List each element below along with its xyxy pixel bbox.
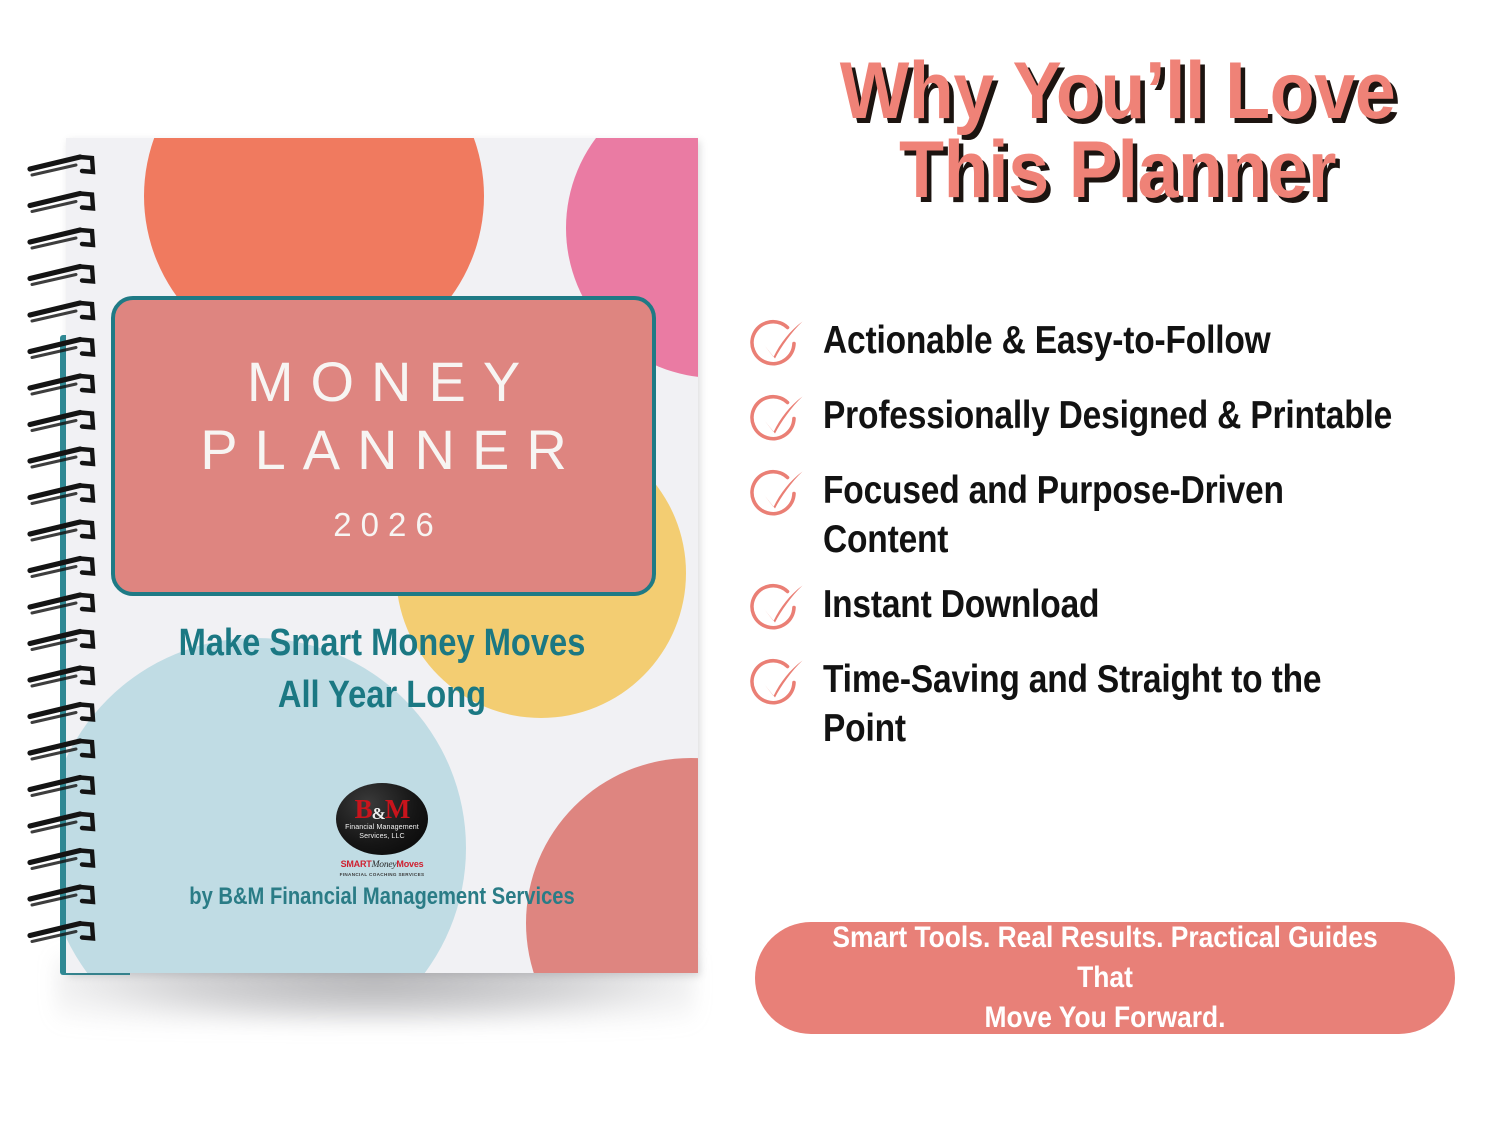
bm-logo: B&M Financial Management Services, LLC S… (333, 783, 431, 877)
wordmark-moves: Moves (396, 859, 423, 869)
list-item-label: Time-Saving and Straight to the Point (823, 656, 1401, 754)
list-item: Professionally Designed & Printable (747, 392, 1487, 451)
wordmark-money: Money (372, 860, 397, 870)
tagline-text: Smart Tools. Real Results. Practical Gui… (832, 918, 1378, 1038)
page-title: Why You’ll LoveThis Planner (792, 52, 1443, 211)
check-circle-icon (747, 657, 809, 715)
check-circle-icon (747, 468, 809, 526)
bm-logo-initial-b: B (355, 794, 372, 824)
list-item-label: Instant Download (823, 581, 1401, 630)
cover-byline: by B&M Financial Management Services (117, 883, 648, 911)
list-item: Focused and Purpose-Driven Content (747, 467, 1487, 565)
wordmark-smart: SMART (341, 859, 372, 869)
cover-title-line-1: MONEY (230, 348, 537, 416)
bm-logo-line-1: Financial Management (345, 823, 419, 832)
list-item: Time-Saving and Straight to the Point (747, 656, 1487, 754)
cover-title-card: MONEY PLANNER 2026 (111, 296, 656, 596)
list-item: Instant Download (747, 581, 1487, 640)
check-circle-icon (747, 393, 809, 451)
list-item-label: Actionable & Easy-to-Follow (823, 317, 1401, 366)
cover-subtitle: Make Smart Money Moves All Year Long (110, 618, 654, 721)
check-circle-icon (747, 318, 809, 376)
cover-title-line-2: PLANNER (183, 416, 584, 484)
decorative-circle-rose (526, 758, 698, 973)
list-item-label: Focused and Purpose-Driven Content (823, 467, 1401, 565)
wordmark-tagline: FINANCIAL COACHING SERVICES (333, 872, 431, 877)
bm-logo-ampersand: & (372, 804, 385, 823)
promo-graphic: MONEY PLANNER 2026 Make Smart Money Move… (0, 0, 1500, 1125)
check-circle-icon (747, 582, 809, 640)
planner-mockup: MONEY PLANNER 2026 Make Smart Money Move… (0, 0, 740, 1125)
cover-subtitle-line-2: All Year Long (110, 670, 654, 722)
bm-logo-line-2: Services, LLC (359, 832, 404, 841)
tagline-pill: Smart Tools. Real Results. Practical Gui… (755, 922, 1455, 1034)
copy-column: Why You’ll LoveThis Planner Actionable &… (735, 0, 1500, 1125)
bm-logo-initial-m: M (385, 794, 409, 824)
list-item-label: Professionally Designed & Printable (823, 392, 1401, 441)
cover-year: 2026 (324, 506, 442, 544)
planner-front-cover: MONEY PLANNER 2026 Make Smart Money Move… (66, 138, 698, 973)
bm-logo-initials: B&M (355, 797, 410, 823)
benefits-list: Actionable & Easy-to-Follow Professional… (747, 317, 1487, 770)
cover-subtitle-line-1: Make Smart Money Moves (110, 618, 654, 670)
bm-logo-oval: B&M Financial Management Services, LLC (336, 783, 428, 855)
smart-money-moves-wordmark: SMARTMoneyMoves (333, 859, 431, 870)
list-item: Actionable & Easy-to-Follow (747, 317, 1487, 376)
spiral-binding-icon (22, 150, 112, 962)
